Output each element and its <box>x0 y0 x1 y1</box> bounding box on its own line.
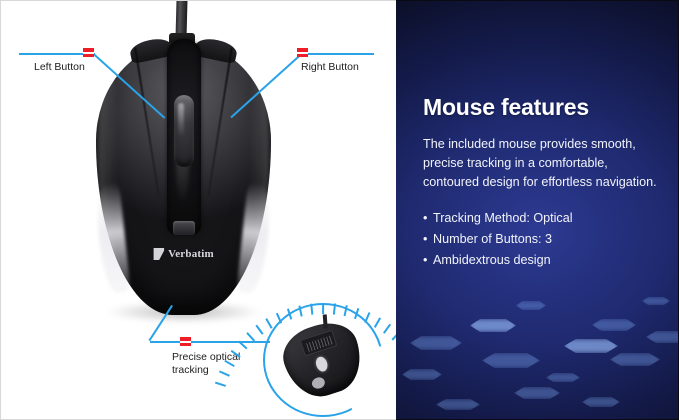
center-button <box>173 221 195 235</box>
right-button-callout-line <box>302 53 374 55</box>
features-content: Mouse features The included mouse provid… <box>423 93 673 271</box>
verbatim-wordmark: Verbatim <box>168 248 214 260</box>
ring-tick <box>383 324 391 334</box>
hexagon-shape <box>546 373 580 382</box>
ring-tick <box>333 303 336 314</box>
features-title: Mouse features <box>423 93 673 121</box>
left-button-label: Left Button <box>34 61 85 74</box>
product-photo-panel: Verbatim Left Button Right Button Precis… <box>0 0 396 420</box>
ring-tick <box>255 325 263 335</box>
mouse-drop-shadow <box>105 301 263 323</box>
product-feature-graphic: Verbatim Left Button Right Button Precis… <box>0 0 679 420</box>
scroll-wheel <box>174 95 194 167</box>
hexagon-shape <box>592 319 636 331</box>
ring-tick <box>298 305 302 316</box>
optical-callout-line <box>150 341 270 343</box>
hexagon-shape <box>470 319 516 332</box>
left-button-marker-icon <box>83 48 94 57</box>
right-button-label: Right Button <box>301 61 359 74</box>
feature-item: Tracking Method: Optical <box>423 208 673 229</box>
feature-item: Ambidextrous design <box>423 250 673 271</box>
hexagon-shape <box>642 297 670 305</box>
hexagon-shape <box>610 353 660 366</box>
features-panel: Mouse features The included mouse provid… <box>396 0 679 420</box>
verbatim-mark-icon <box>153 248 164 260</box>
ring-tick <box>322 303 324 314</box>
ring-tick <box>276 313 282 324</box>
features-description: The included mouse provides smooth, prec… <box>423 135 661 192</box>
hexagon-shape <box>482 353 540 368</box>
hexagon-shape <box>582 397 620 407</box>
scroll-wheel-highlight <box>178 103 184 137</box>
feature-item: Number of Buttons: 3 <box>423 229 673 250</box>
verbatim-logo: Verbatim <box>153 248 214 260</box>
hexagon-shape <box>516 301 546 310</box>
ring-tick <box>310 304 313 315</box>
ring-tick <box>265 318 272 328</box>
hexagon-shape <box>410 336 462 350</box>
hexagon-shape <box>514 387 560 399</box>
ring-tick <box>364 312 370 323</box>
hexagon-shape <box>436 399 480 410</box>
hexagon-shape <box>646 331 679 343</box>
mouse-top-view: Verbatim <box>96 43 271 315</box>
optical-marker-icon <box>180 337 191 346</box>
ring-tick <box>374 317 381 327</box>
ring-tick <box>287 309 292 320</box>
right-button-marker-icon <box>297 48 308 57</box>
ring-tick <box>354 308 359 319</box>
hexagon-shape <box>402 369 442 380</box>
features-list: Tracking Method: OpticalNumber of Button… <box>423 208 673 271</box>
ring-tick <box>215 382 226 387</box>
hexagon-shape <box>564 339 618 353</box>
optical-tracking-inset <box>259 299 387 420</box>
